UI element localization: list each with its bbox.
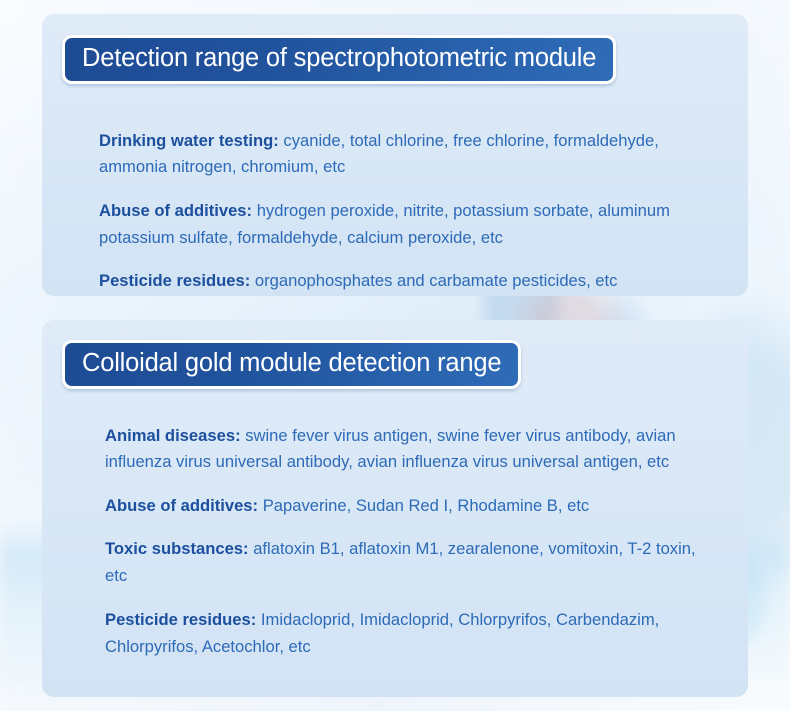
entry-item: Drinking water testing cyanide, total ch… xyxy=(99,128,714,182)
entry-label: Animal diseases xyxy=(105,426,241,445)
panel-spectrophotometric-module: Detection range of spectrophotometric mo… xyxy=(42,14,748,296)
entry-item: Abuse of additives hydrogen peroxide, ni… xyxy=(99,198,714,252)
panel-title-text: Colloidal gold module detection range xyxy=(65,343,518,386)
entry-label: Abuse of additives xyxy=(99,201,252,220)
entry-list-colloidal-gold: Animal diseases swine fever virus antige… xyxy=(105,406,718,676)
entry-label: Drinking water testing xyxy=(99,131,279,150)
entry-item: Abuse of additives Papaverine, Sudan Red… xyxy=(105,493,718,520)
entry-item: Animal diseases swine fever virus antige… xyxy=(105,423,718,477)
entry-label: Toxic substances xyxy=(105,539,249,558)
entry-label: Pesticide residues xyxy=(99,271,250,290)
panel-title-text: Detection range of spectrophotometric mo… xyxy=(65,38,613,81)
panel-colloidal-gold-module: Colloidal gold module detection range An… xyxy=(42,320,748,697)
entry-items: organophosphates and carbamate pesticide… xyxy=(255,271,618,290)
entry-items: Papaverine, Sudan Red I, Rhodamine B, et… xyxy=(263,496,590,515)
entry-item: Pesticide residues organophosphates and … xyxy=(99,268,714,295)
panel-title-badge-colloidal-gold: Colloidal gold module detection range xyxy=(62,340,521,389)
entry-item: Toxic substances aflatoxin B1, aflatoxin… xyxy=(105,536,718,590)
panel-title-badge-spectrophotometric: Detection range of spectrophotometric mo… xyxy=(62,35,616,84)
entry-item: Pesticide residues Imidacloprid, Imidacl… xyxy=(105,607,718,661)
entry-label: Pesticide residues xyxy=(105,610,256,629)
entry-label: Abuse of additives xyxy=(105,496,258,515)
entry-list-spectrophotometric: Drinking water testing cyanide, total ch… xyxy=(99,111,714,295)
